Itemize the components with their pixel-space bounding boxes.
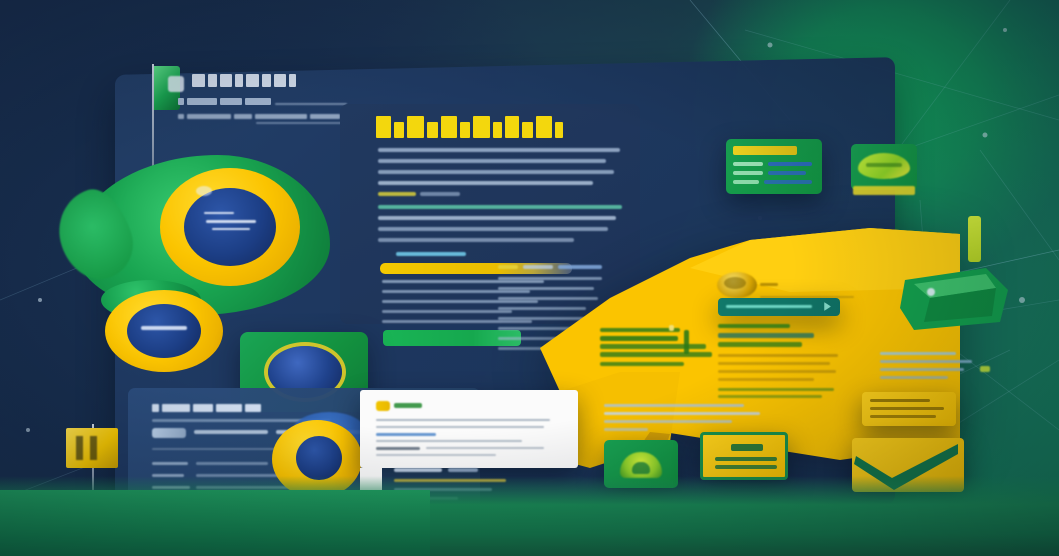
vignette-overlay: [0, 0, 1059, 556]
illustration-canvas: [0, 0, 1059, 556]
